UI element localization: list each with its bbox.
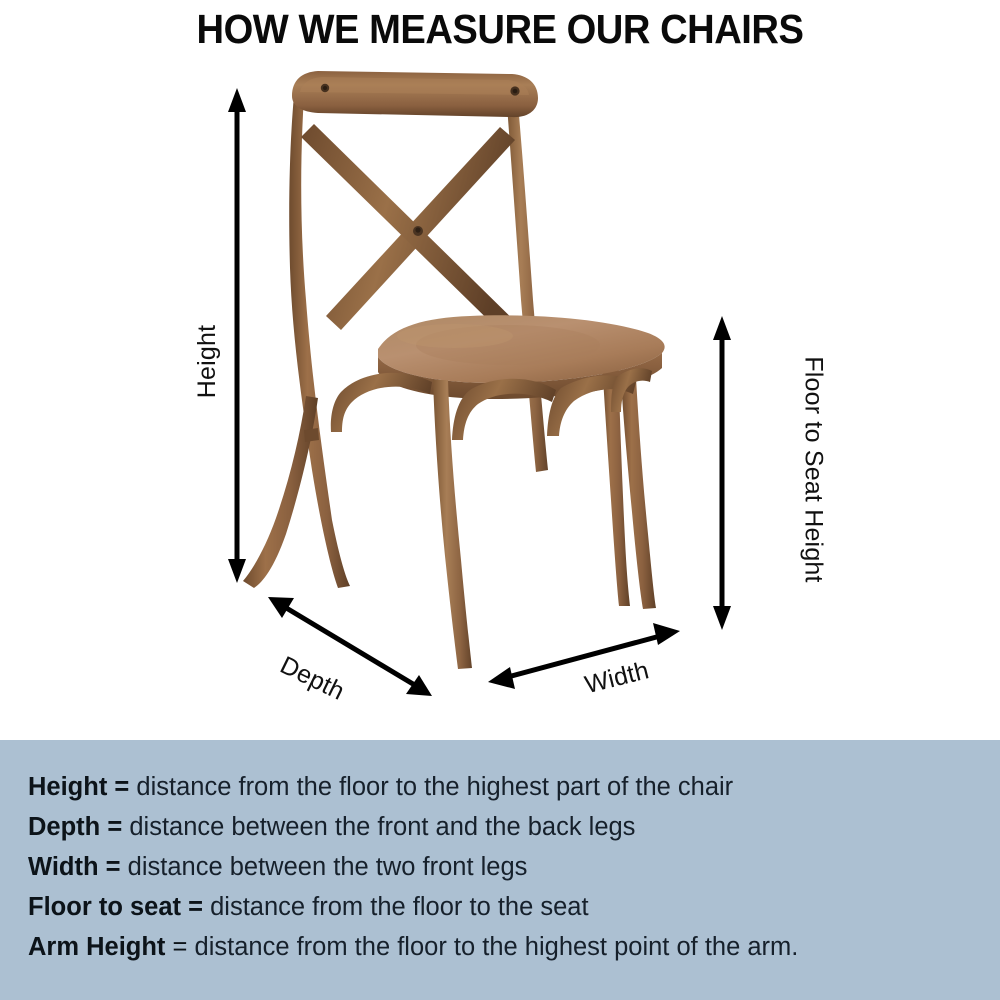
legend-equals-height: = bbox=[114, 773, 129, 801]
legend-term-depth: Depth bbox=[28, 813, 100, 841]
height-arrow bbox=[228, 88, 246, 583]
legend-definition-depth: distance between the front and the back … bbox=[129, 813, 635, 841]
legend-term-arm-height: Arm Height bbox=[28, 933, 165, 961]
legend-panel: Height = distance from the floor to the … bbox=[0, 740, 1000, 1000]
legend-equals-depth: = bbox=[107, 813, 122, 841]
legend-definition-height: distance from the floor to the highest p… bbox=[136, 773, 733, 801]
legend-term-height: Height bbox=[28, 773, 107, 801]
dimension-arrows bbox=[0, 0, 1000, 740]
dimension-label-height: Height bbox=[193, 325, 222, 398]
infographic-page: HOW WE MEASURE OUR CHAIRS bbox=[0, 0, 1000, 1000]
legend-definition-width: distance between the two front legs bbox=[128, 853, 528, 881]
floor-to-seat-arrow bbox=[713, 316, 731, 630]
legend-definition-floor-to-seat: distance from the floor to the seat bbox=[210, 893, 588, 921]
legend-item-height: Height = distance from the floor to the … bbox=[28, 767, 978, 807]
legend-item-arm-height: Arm Height = distance from the floor to … bbox=[28, 927, 978, 967]
legend-list: Height = distance from the floor to the … bbox=[28, 767, 978, 967]
legend-term-width: Width bbox=[28, 853, 99, 881]
chair-illustration: Height Floor to Seat Height Depth Width bbox=[0, 0, 1000, 740]
legend-term-floor-to-seat: Floor to seat bbox=[28, 893, 181, 921]
legend-item-floor-to-seat: Floor to seat = distance from the floor … bbox=[28, 887, 978, 927]
legend-definition-arm-height: distance from the floor to the highest p… bbox=[195, 933, 799, 961]
legend-equals-arm-height: = bbox=[173, 933, 188, 961]
legend-item-width: Width = distance between the two front l… bbox=[28, 847, 978, 887]
dimension-label-floor-to-seat-height: Floor to Seat Height bbox=[799, 356, 828, 582]
legend-equals-floor-to-seat: = bbox=[188, 893, 203, 921]
legend-item-depth: Depth = distance between the front and t… bbox=[28, 807, 978, 847]
legend-equals-width: = bbox=[106, 853, 121, 881]
